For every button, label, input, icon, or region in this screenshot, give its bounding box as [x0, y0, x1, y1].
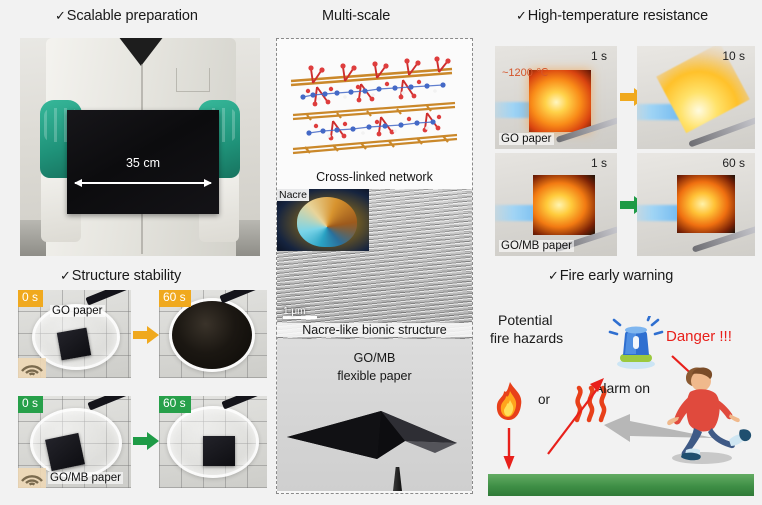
- sheet-dimension-label: 35 cm: [67, 156, 219, 170]
- nacre-structure-caption: Nacre-like bionic structure: [277, 323, 472, 337]
- scale-bar-label: 1 μm: [283, 306, 305, 317]
- structure-stability-heading: ✓Structure stability: [60, 268, 181, 284]
- multiscale-label: Multi-scale: [322, 8, 390, 24]
- hazard-label-line2: fire hazards: [490, 330, 563, 347]
- transition-arrow-green-icon: [133, 432, 159, 450]
- nacre-inset-photo: Nacre: [277, 189, 369, 251]
- time-badge: 60 s: [718, 156, 750, 173]
- structure-tile-go-60s: 60 s: [159, 290, 267, 378]
- red-arrow-down-icon: [502, 428, 516, 470]
- time-badge: 10 s: [718, 49, 750, 66]
- time-badge: 1 s: [587, 49, 612, 66]
- tile-label-gomb-paper: GO/MB paper: [499, 240, 574, 252]
- scalable-preparation-label: Scalable preparation: [67, 8, 198, 24]
- multiscale-heading: Multi-scale: [322, 8, 390, 24]
- running-person-icon: [656, 362, 752, 464]
- gomb-paper-square-intact: [203, 436, 235, 466]
- dissolved-go-suspension: [172, 301, 252, 369]
- fire-warning-heading: ✓Fire early warning: [548, 268, 673, 284]
- transition-arrow-amber-icon: [133, 326, 159, 344]
- burning-go-paper: [529, 70, 591, 132]
- crosslinked-network-panel: Cross-linked network: [277, 39, 472, 189]
- wifi-signal-icon: [18, 468, 46, 488]
- fas-system-green-bar: [488, 474, 754, 496]
- hightemp-tile-gomb-60s: 60 s: [637, 153, 755, 256]
- time-badge: 1 s: [587, 156, 612, 173]
- check-icon: ✓: [548, 268, 559, 283]
- dimension-arrow-icon: [75, 182, 211, 184]
- tile-label-go-paper: GO paper: [50, 305, 105, 317]
- high-temperature-heading: ✓High-temperature resistance: [516, 8, 708, 24]
- flexible-paper-caption-line2: flexible paper: [277, 369, 472, 383]
- nacre-structure-panel: Nacre 1 μm Nacre-like bionic structure: [277, 189, 472, 339]
- hightemp-tile-gomb-1s: 1 s GO/MB paper: [495, 153, 617, 256]
- structure-tile-gomb-0s: 0 s GO/MB paper: [18, 396, 131, 488]
- check-icon: ✓: [516, 8, 527, 23]
- fire-warning-label: Fire early warning: [560, 268, 673, 284]
- time-badge: 60 s: [159, 290, 191, 307]
- scalable-preparation-photo: 35 cm: [20, 38, 260, 256]
- burning-gomb-paper: [533, 175, 595, 235]
- nacre-inset-label: Nacre: [277, 189, 309, 201]
- structure-tile-go-0s: 0 s GO paper: [18, 290, 131, 378]
- flexible-paper-panel: GO/MB flexible paper: [277, 339, 472, 491]
- burning-gomb-paper-intact: [677, 175, 735, 233]
- fire-warning-diagram: Potential fire hazards or FAS system: [486, 292, 758, 500]
- structure-stability-label: Structure stability: [72, 268, 181, 284]
- flame-icon: [490, 380, 530, 422]
- tile-label-gomb-paper: GO/MB paper: [48, 472, 123, 484]
- scalable-preparation-heading: ✓Scalable preparation: [55, 8, 198, 24]
- coat-collar: [118, 38, 164, 66]
- structure-tile-gomb-60s: 60 s: [159, 396, 267, 488]
- flexible-paper-caption-line1: GO/MB: [277, 351, 472, 365]
- wifi-signal-icon: [18, 358, 46, 378]
- check-icon: ✓: [60, 268, 71, 283]
- coat-pocket: [176, 68, 210, 92]
- time-badge: 0 s: [18, 396, 43, 413]
- paper-airplane-icon: [285, 397, 461, 471]
- danger-label: Danger !!!: [666, 328, 732, 345]
- go-paper-sheet: 35 cm: [67, 110, 219, 214]
- red-arrow-to-alarm-icon: [544, 370, 608, 456]
- nacre-shell: [297, 197, 357, 247]
- multiscale-dashed-panel: Cross-linked network Nacre 1 μm Nacre-li…: [276, 38, 473, 494]
- time-badge: 60 s: [159, 396, 191, 413]
- check-icon: ✓: [55, 8, 66, 23]
- temperature-label: ~1200 ℃: [502, 66, 548, 79]
- graphical-abstract-figure: ✓Scalable preparation 35 cm ✓Structure s…: [0, 0, 762, 505]
- hazard-label-line1: Potential: [498, 312, 552, 329]
- crosslinked-network-caption: Cross-linked network: [277, 170, 472, 184]
- go-paper-square: [57, 328, 91, 361]
- crosslinked-network-illustration: [277, 41, 472, 169]
- hightemp-tile-go-1s: 1 s ~1200 ℃ GO paper: [495, 46, 617, 149]
- high-temperature-label: High-temperature resistance: [528, 8, 708, 24]
- tile-label-go-paper: GO paper: [499, 133, 554, 145]
- time-badge: 0 s: [18, 290, 43, 307]
- hightemp-tile-go-10s: 10 s: [637, 46, 755, 149]
